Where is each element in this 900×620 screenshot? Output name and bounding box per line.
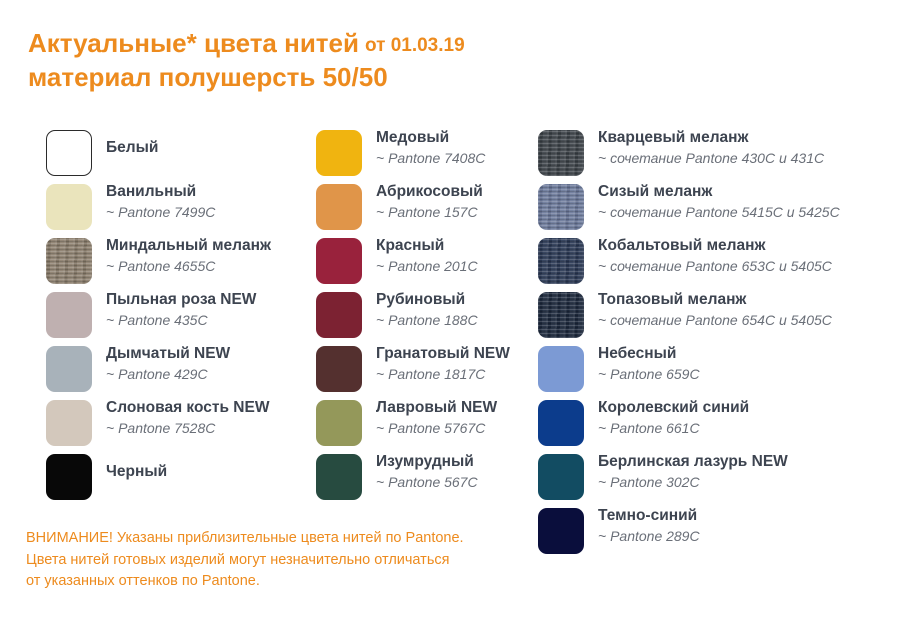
swatch-name: Черный [106,462,167,482]
color-swatch [316,130,362,176]
swatch-row[interactable]: Пыльная роза NEW~ Pantone 435C [46,290,308,344]
page-subtitle: материал полушерсть 50/50 [28,62,868,93]
swatch-row[interactable]: Слоновая кость NEW~ Pantone 7528C [46,398,308,452]
page-title-date: от 01.03.19 [365,35,465,56]
swatch-pantone-code: ~ Pantone 7408C [376,149,485,168]
swatch-row[interactable]: Дымчатый NEW~ Pantone 429C [46,344,308,398]
swatch-row[interactable]: Красный~ Pantone 201C [316,236,530,290]
swatch-name: Красный [376,236,478,256]
swatch-labels: Изумрудный~ Pantone 567C [376,452,478,492]
color-swatch [46,292,92,338]
swatch-row[interactable]: Берлинская лазурь NEW~ Pantone 302C [538,452,888,506]
warning-line-2: Цвета нитей готовых изделий могут незнач… [26,550,586,572]
swatch-row[interactable]: Абрикосовый~ Pantone 157C [316,182,530,236]
swatch-pantone-code: ~ сочетание Pantone 5415C и 5425C [598,203,840,222]
swatch-column-1: БелыйВанильный~ Pantone 7499CМиндальный … [46,128,308,506]
swatch-row[interactable]: Миндальный меланж~ Pantone 4655C [46,236,308,290]
swatch-row[interactable]: Королевский синий~ Pantone 661C [538,398,888,452]
swatch-name: Лавровый NEW [376,398,497,418]
swatch-name: Кобальтовый меланж [598,236,832,256]
swatch-pantone-code: ~ Pantone 188C [376,311,478,330]
swatch-name: Кварцевый меланж [598,128,824,148]
color-swatch [538,292,584,338]
swatch-labels: Миндальный меланж~ Pantone 4655C [106,236,271,276]
swatch-row[interactable]: Гранатовый NEW~ Pantone 1817C [316,344,530,398]
swatch-pantone-code: ~ Pantone 429C [106,365,230,384]
color-swatch [538,400,584,446]
swatch-name: Дымчатый NEW [106,344,230,364]
swatch-row[interactable]: Белый [46,128,308,182]
swatch-name: Миндальный меланж [106,236,271,256]
swatch-row[interactable]: Темно-синий~ Pantone 289C [538,506,888,560]
color-swatch [46,130,92,176]
page-title: Актуальные* цвета нитейот 01.03.19 [28,28,868,62]
color-swatch [46,346,92,392]
swatch-labels: Кварцевый меланж~ сочетание Pantone 430C… [598,128,824,168]
swatch-row[interactable]: Кобальтовый меланж~ сочетание Pantone 65… [538,236,888,290]
swatch-pantone-code: ~ Pantone 4655C [106,257,271,276]
swatch-name: Изумрудный [376,452,478,472]
swatch-pantone-code: ~ сочетание Pantone 654C и 5405C [598,311,832,330]
swatch-pantone-code: ~ сочетание Pantone 653C и 5405C [598,257,832,276]
swatch-name: Небесный [598,344,700,364]
color-swatch [46,184,92,230]
swatch-labels: Белый [106,128,158,158]
color-swatch [46,400,92,446]
color-swatch [538,346,584,392]
swatch-labels: Пыльная роза NEW~ Pantone 435C [106,290,256,330]
swatch-row[interactable]: Сизый меланж~ сочетание Pantone 5415C и … [538,182,888,236]
swatch-pantone-code: ~ Pantone 1817C [376,365,510,384]
color-swatch [316,238,362,284]
swatch-name: Медовый [376,128,485,148]
swatch-pantone-code: ~ Pantone 5767C [376,419,497,438]
swatch-row[interactable]: Небесный~ Pantone 659C [538,344,888,398]
swatch-name: Ванильный [106,182,215,202]
color-swatch [316,454,362,500]
swatch-name: Белый [106,138,158,158]
swatch-pantone-code: ~ Pantone 7499C [106,203,215,222]
swatch-labels: Сизый меланж~ сочетание Pantone 5415C и … [598,182,840,222]
swatch-pantone-code: ~ Pantone 302C [598,473,788,492]
swatch-row[interactable]: Медовый~ Pantone 7408C [316,128,530,182]
swatch-pantone-code: ~ Pantone 289C [598,527,700,546]
swatch-row[interactable]: Ванильный~ Pantone 7499C [46,182,308,236]
swatch-pantone-code: ~ Pantone 659C [598,365,700,384]
swatch-labels: Черный [106,452,167,482]
warning-note: ВНИМАНИЕ! Указаны приблизительные цвета … [26,528,586,593]
swatch-labels: Гранатовый NEW~ Pantone 1817C [376,344,510,384]
page-header: Актуальные* цвета нитейот 01.03.19 матер… [28,28,868,93]
swatch-row[interactable]: Лавровый NEW~ Pantone 5767C [316,398,530,452]
swatch-labels: Небесный~ Pantone 659C [598,344,700,384]
swatch-labels: Топазовый меланж~ сочетание Pantone 654C… [598,290,832,330]
swatch-labels: Медовый~ Pantone 7408C [376,128,485,168]
swatch-pantone-code: ~ Pantone 661C [598,419,749,438]
swatch-name: Абрикосовый [376,182,483,202]
swatch-pantone-code: ~ Pantone 7528C [106,419,269,438]
swatch-name: Темно-синий [598,506,700,526]
color-swatch [46,238,92,284]
color-swatch [316,184,362,230]
color-swatch [538,454,584,500]
warning-line-1: ВНИМАНИЕ! Указаны приблизительные цвета … [26,528,586,550]
swatch-pantone-code: ~ Pantone 157C [376,203,483,222]
swatch-name: Берлинская лазурь NEW [598,452,788,472]
swatch-name: Рубиновый [376,290,478,310]
page-title-main: Актуальные* цвета нитей [28,28,359,58]
swatch-name: Топазовый меланж [598,290,832,310]
swatch-pantone-code: ~ Pantone 567C [376,473,478,492]
swatch-labels: Кобальтовый меланж~ сочетание Pantone 65… [598,236,832,276]
color-swatch [46,454,92,500]
swatch-name: Сизый меланж [598,182,840,202]
swatch-labels: Ванильный~ Pantone 7499C [106,182,215,222]
swatch-column-2: Медовый~ Pantone 7408CАбрикосовый~ Panto… [316,128,530,506]
swatch-labels: Лавровый NEW~ Pantone 5767C [376,398,497,438]
swatch-row[interactable]: Черный [46,452,308,506]
swatch-labels: Красный~ Pantone 201C [376,236,478,276]
swatch-labels: Берлинская лазурь NEW~ Pantone 302C [598,452,788,492]
color-chart-page: Актуальные* цвета нитейот 01.03.19 матер… [0,0,900,620]
swatch-pantone-code: ~ сочетание Pantone 430C и 431C [598,149,824,168]
swatch-column-3: Кварцевый меланж~ сочетание Pantone 430C… [538,128,888,560]
color-swatch [316,400,362,446]
swatch-row[interactable]: Изумрудный~ Pantone 567C [316,452,530,506]
swatch-row[interactable]: Кварцевый меланж~ сочетание Pantone 430C… [538,128,888,182]
swatch-pantone-code: ~ Pantone 435C [106,311,256,330]
swatch-name: Гранатовый NEW [376,344,510,364]
swatch-labels: Рубиновый~ Pantone 188C [376,290,478,330]
swatch-labels: Темно-синий~ Pantone 289C [598,506,700,546]
swatch-labels: Слоновая кость NEW~ Pantone 7528C [106,398,269,438]
color-swatch [538,130,584,176]
swatch-labels: Абрикосовый~ Pantone 157C [376,182,483,222]
swatch-name: Слоновая кость NEW [106,398,269,418]
warning-line-3: от указанных оттенков по Pantone. [26,571,586,593]
swatch-labels: Королевский синий~ Pantone 661C [598,398,749,438]
swatch-labels: Дымчатый NEW~ Pantone 429C [106,344,230,384]
color-swatch [316,292,362,338]
swatch-pantone-code: ~ Pantone 201C [376,257,478,276]
color-swatch [538,184,584,230]
color-swatch [538,238,584,284]
swatch-row[interactable]: Рубиновый~ Pantone 188C [316,290,530,344]
color-swatch [316,346,362,392]
swatch-name: Королевский синий [598,398,749,418]
swatch-name: Пыльная роза NEW [106,290,256,310]
swatch-row[interactable]: Топазовый меланж~ сочетание Pantone 654C… [538,290,888,344]
